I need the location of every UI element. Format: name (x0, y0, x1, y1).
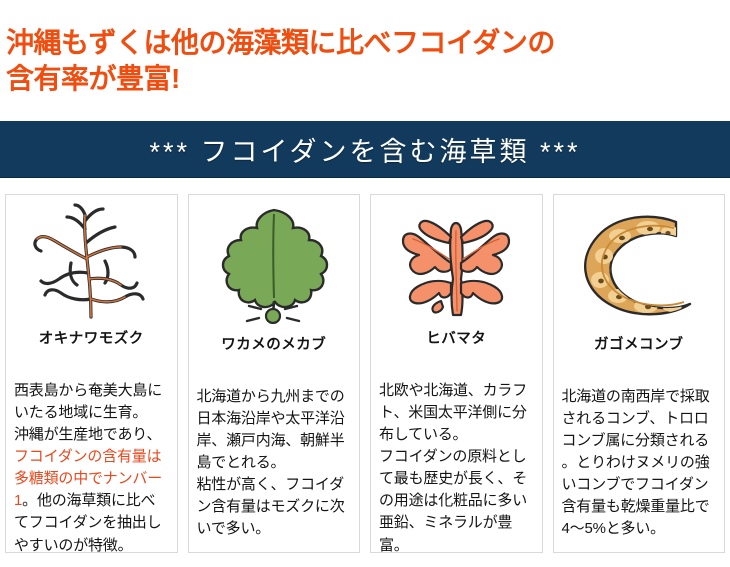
card-body-pre: 北海道の南西岸で採取 されるコンブ、トロロ コンブ属に分類される 。とりわけヌメ… (562, 388, 710, 537)
gagome-kombu-kelp-icon (564, 202, 714, 324)
card-figure (189, 199, 360, 327)
seaweed-card: オキナワモズク 西表島から奄美大島に いたる地域に生育。 沖縄が生産地であり、 … (5, 194, 178, 553)
card-body-pre: 北欧や北海道、カラフ ト、米国太平洋側に分 布している。 フコイダンの原料とし … (379, 382, 527, 553)
card-body: 北海道から九州までの 日本海沿岸や太平洋沿 岸、瀬戸内海、朝鮮半 島でとれる。 … (189, 364, 360, 546)
section-banner: *** フコイダンを含む海草類 *** (0, 121, 730, 178)
page-headline: 沖縄もずくは他の海藻類に比べフコイダンの 含有率が豊富! (0, 19, 730, 97)
card-body: 北海道の南西岸で採取 されるコンブ、トロロ コンブ属に分類される 。とりわけヌメ… (554, 364, 725, 546)
seaweed-card: ヒバマタ 北欧や北海道、カラフ ト、米国太平洋側に分 布している。 フコイダンの… (370, 194, 543, 553)
seaweed-card: ワカメのメカブ 北海道から九州までの 日本海沿岸や太平洋沿 岸、瀬戸内海、朝鮮半… (188, 194, 361, 553)
wakame-mekabu-seaweed-icon (209, 202, 339, 324)
card-title: ワカメのメカブ (189, 327, 360, 364)
infographic-root: 沖縄もずくは他の海藻類に比べフコイダンの 含有率が豊富! *** フコイダンを含… (0, 19, 730, 553)
card-title: ヒバマタ (371, 321, 542, 358)
card-figure (554, 199, 725, 327)
card-figure (6, 199, 177, 321)
section-banner-wrapper: *** フコイダンを含む海草類 *** (0, 115, 730, 178)
section-banner-label: *** フコイダンを含む海草類 *** (150, 130, 581, 169)
okinawa-mozuku-seaweed-icon (21, 199, 161, 321)
card-body-post: 。他の海草類に比べ てフコイダンを抽出し やすいのが特徴。 (14, 492, 161, 553)
card-figure (371, 199, 542, 321)
card-body: 西表島から奄美大島に いたる地域に生育。 沖縄が生産地であり、 フコイダンの含有… (6, 358, 177, 553)
card-title: ガゴメコンブ (554, 327, 725, 364)
card-title: オキナワモズク (6, 321, 177, 358)
card-body-pre: 西表島から奄美大島に いたる地域に生育。 沖縄が生産地であり、 (14, 382, 162, 443)
seaweed-card-list: オキナワモズク 西表島から奄美大島に いたる地域に生育。 沖縄が生産地であり、 … (0, 178, 730, 553)
hibamata-seaweed-icon (381, 199, 531, 321)
card-body: 北欧や北海道、カラフ ト、米国太平洋側に分 布している。 フコイダンの原料とし … (371, 358, 542, 553)
seaweed-card: ガゴメコンブ 北海道の南西岸で採取 されるコンブ、トロロ コンブ属に分類される … (553, 194, 726, 553)
card-body-pre: 北海道から九州までの 日本海沿岸や太平洋沿 岸、瀬戸内海、朝鮮半 島でとれる。 … (197, 388, 345, 537)
